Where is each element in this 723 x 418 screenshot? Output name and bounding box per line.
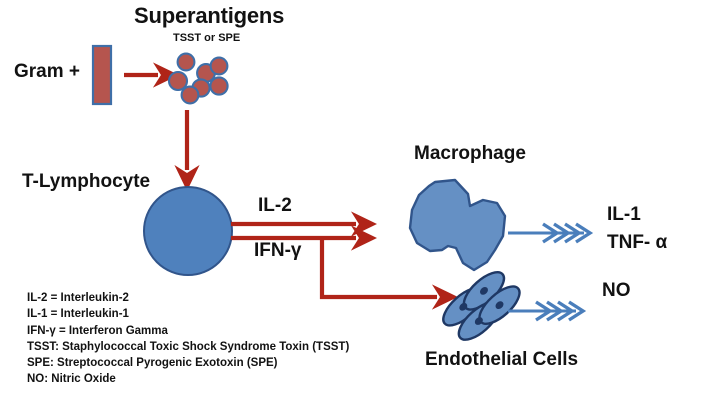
legend-line: IL-2 = Interleukin-2	[27, 290, 349, 306]
label-endothelial-cells: Endothelial Cells	[425, 350, 578, 370]
legend-line: SPE: Streptococcal Pyrogenic Exotoxin (S…	[27, 355, 349, 371]
macrophage-cell	[410, 180, 505, 270]
label-no: NO	[602, 281, 631, 301]
t-lymphocyte-cell	[144, 187, 232, 275]
label-tnf-alpha: TNF- α	[607, 233, 667, 253]
arrow-macrophage-to-cytokines	[508, 224, 590, 242]
label-il1: IL-1	[607, 205, 641, 225]
legend-line: NO: Nitric Oxide	[27, 371, 349, 387]
diagram-canvas: Superantigens TSST or SPE Gram + T-Lymph…	[0, 0, 723, 418]
superantigen-particles	[169, 54, 228, 104]
legend-line: IFN-γ = Interferon Gamma	[27, 323, 349, 339]
abbreviation-legend: IL-2 = Interleukin-2 IL-1 = Interleukin-…	[27, 290, 349, 388]
label-gram-positive: Gram +	[14, 62, 80, 82]
label-il2: IL-2	[258, 196, 292, 216]
label-ifn-gamma: IFN-γ	[254, 241, 302, 261]
arrow-endothelial-to-no	[508, 302, 583, 320]
arrow-branch-to-endothelial	[322, 238, 437, 297]
gram-positive-bacterium	[93, 46, 111, 104]
legend-line: IL-1 = Interleukin-1	[27, 306, 349, 322]
legend-line: TSST: Staphylococcal Toxic Shock Syndrom…	[27, 339, 349, 355]
endothelial-cell-cluster	[437, 263, 525, 349]
label-superantigens: Superantigens	[134, 4, 284, 27]
label-macrophage: Macrophage	[414, 144, 526, 164]
label-t-lymphocyte: T-Lymphocyte	[22, 172, 150, 192]
label-tsst-or-spe: TSST or SPE	[173, 33, 240, 45]
